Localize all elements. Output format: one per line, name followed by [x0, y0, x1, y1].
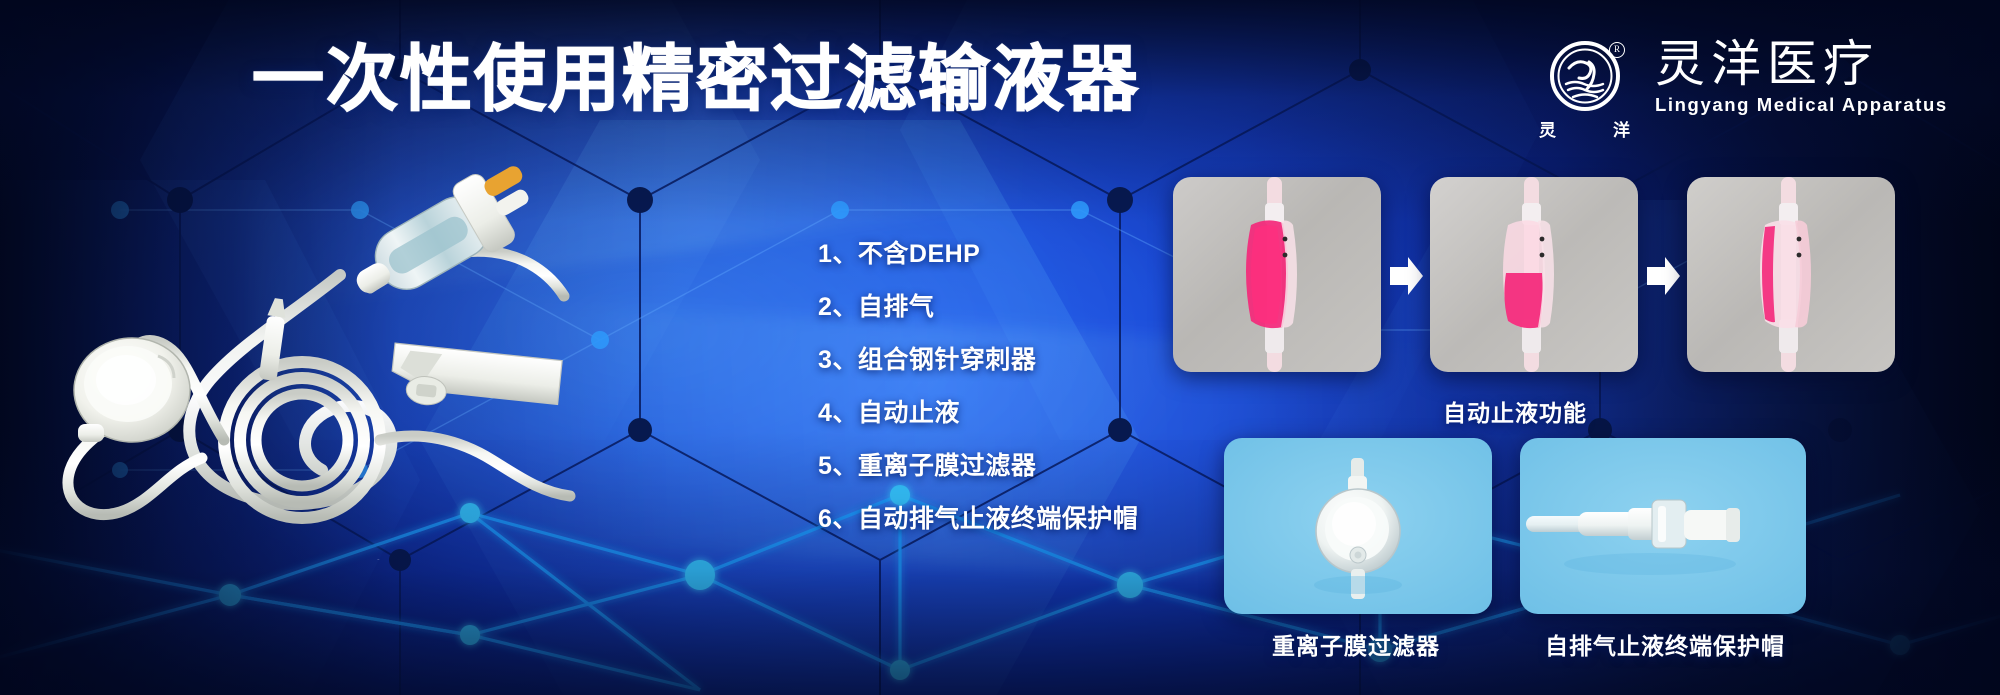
feature-item-5: 5、重离子膜过滤器 [818, 440, 1138, 493]
product-filter-part [74, 338, 190, 442]
feature-item-2: 2、自排气 [818, 281, 1138, 334]
feature-list: 1、不含DEHP 2、自排气 3、组合钢针穿刺器 4、自动止液 5、重离子膜过滤… [818, 228, 1138, 546]
logo-sub-characters: 灵 洋 [1539, 116, 1631, 141]
brand-name-cn: 灵洋医疗 [1655, 36, 1948, 92]
product-photo [40, 140, 600, 560]
registered-trademark-icon: R [1609, 42, 1625, 58]
logo-char-left: 灵 [1539, 116, 1557, 141]
photo-heavy-ion-filter [1224, 438, 1492, 614]
product-banner: 一次性使用精密过滤输液器 R 灵 洋 灵洋医疗 [0, 0, 2000, 695]
logo-char-right: 洋 [1613, 116, 1631, 141]
feature-item-3: 3、组合钢针穿刺器 [818, 334, 1138, 387]
brand-name-block: 灵洋医疗 Lingyang Medical Apparatus [1655, 36, 1948, 116]
logo-emblem-icon: R [1549, 40, 1621, 112]
brand-logo: R 灵 洋 灵洋医疗 Lingyang Medical Apparatus [1537, 36, 1948, 141]
feature-item-4: 4、自动止液 [818, 387, 1138, 440]
sequence-photo-1 [1173, 177, 1381, 372]
logo-mark: R 灵 洋 [1537, 36, 1633, 141]
sequence-photo-2 [1430, 177, 1638, 372]
caption-heavy-ion-filter: 重离子膜过滤器 [1272, 627, 1440, 661]
arrow-right-icon-2 [1643, 255, 1683, 297]
caption-auto-stop: 自动止液功能 [1443, 394, 1587, 428]
sequence-photo-3 [1687, 177, 1895, 372]
feature-item-1: 1、不含DEHP [818, 228, 1138, 281]
caption-terminal-cap: 自排气止液终端保护帽 [1545, 627, 1785, 661]
feature-item-6: 6、自动排气止液终端保护帽 [818, 493, 1138, 546]
page-title: 一次性使用精密过滤输液器 [252, 44, 1140, 116]
brand-name-en: Lingyang Medical Apparatus [1655, 94, 1948, 116]
photo-terminal-cap [1520, 438, 1806, 614]
arrow-right-icon-1 [1386, 255, 1426, 297]
